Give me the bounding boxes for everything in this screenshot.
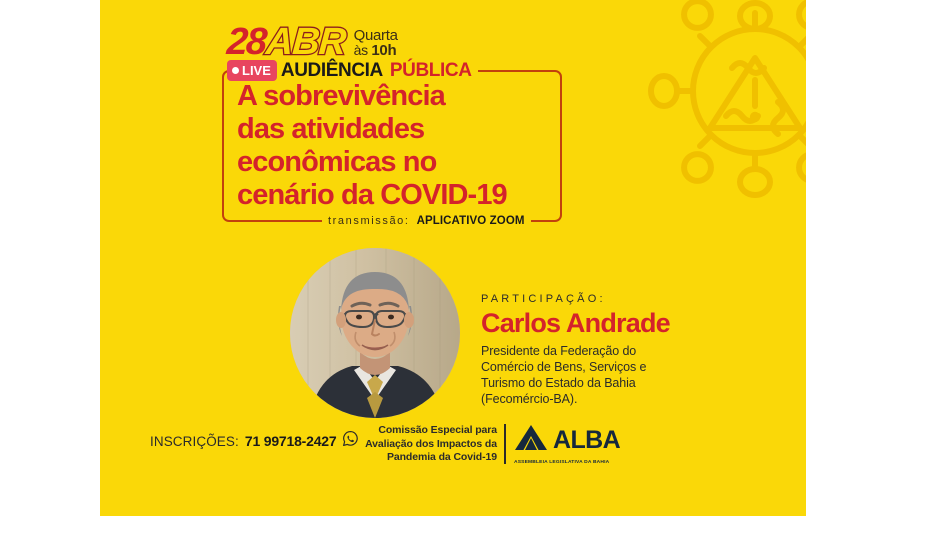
transmission-info: transmissão: APLICATIVO ZOOM: [322, 213, 531, 229]
headline: A sobrevivência das atividades econômica…: [237, 80, 567, 212]
speaker-role-line-3: Turismo do Estado da Bahia: [481, 375, 761, 391]
registration-info: INSCRIÇÕES: 71 99718-2427: [150, 430, 359, 452]
speaker-role-line-2: Comércio de Bens, Serviços e: [481, 359, 761, 375]
coronavirus-warning-icon: [640, 0, 806, 206]
transmission-label: transmissão:: [328, 215, 410, 227]
event-date: 28 ABR Quarta às 10h: [227, 17, 398, 61]
transmission-value: APLICATIVO ZOOM: [417, 215, 525, 227]
live-badge-label: LIVE: [242, 64, 271, 77]
commission-line-2: Avaliação dos Impactos da: [352, 438, 497, 452]
date-time-value: 10h: [371, 42, 396, 59]
commission-line-1: Comissão Especial para: [352, 424, 497, 438]
headline-line-4: cenário da COVID-19: [237, 179, 567, 212]
date-weekday: Quarta: [354, 28, 398, 43]
headline-line-1: A sobrevivência: [237, 80, 567, 113]
registration-label: INSCRIÇÕES:: [150, 434, 239, 449]
alba-subtitle: ASSEMBLEIA LEGISLATIVA DA BAHIA: [514, 460, 609, 465]
event-poster: 28 ABR Quarta às 10h LIVE AUDIÊNCIA PÚBL…: [100, 0, 806, 516]
speaker-photo: [290, 248, 460, 418]
headline-line-3: econômicas no: [237, 146, 567, 179]
audiencia-label: AUDIÊNCIA: [281, 61, 383, 80]
alba-mountain-icon: [514, 424, 548, 457]
registration-phone: 71 99718-2427: [245, 433, 337, 449]
date-when: Quarta às 10h: [354, 28, 398, 61]
live-badge: LIVE: [227, 60, 277, 81]
speaker-role-line-4: (Fecomércio-BA).: [481, 391, 761, 407]
date-time: às 10h: [354, 43, 398, 58]
alba-logo: ALBA ASSEMBLEIA LEGISLATIVA DA BAHIA: [514, 424, 620, 465]
alba-wordmark: ALBA: [553, 428, 620, 453]
speaker-info: PARTICIPAÇÃO: Carlos Andrade Presidente …: [481, 293, 761, 407]
date-day: 28: [226, 23, 267, 61]
commission-name: Comissão Especial para Avaliação dos Imp…: [352, 424, 497, 465]
audiencia-row: LIVE AUDIÊNCIA PÚBLICA: [227, 59, 478, 81]
participation-label: PARTICIPAÇÃO:: [481, 293, 761, 305]
commission-line-3: Pandemia da Covid-19: [352, 451, 497, 465]
speaker-role: Presidente da Federação do Comércio de B…: [481, 343, 761, 407]
speaker-role-line-1: Presidente da Federação do: [481, 343, 761, 359]
logo-divider: [504, 424, 506, 464]
date-time-prefix: às: [354, 42, 368, 58]
publica-label: PÚBLICA: [390, 61, 472, 80]
speaker-name: Carlos Andrade: [481, 309, 761, 338]
headline-line-2: das atividades: [237, 113, 567, 146]
date-month: ABR: [265, 23, 347, 61]
alba-logo-top: ALBA: [514, 424, 620, 457]
live-dot-icon: [232, 67, 239, 74]
